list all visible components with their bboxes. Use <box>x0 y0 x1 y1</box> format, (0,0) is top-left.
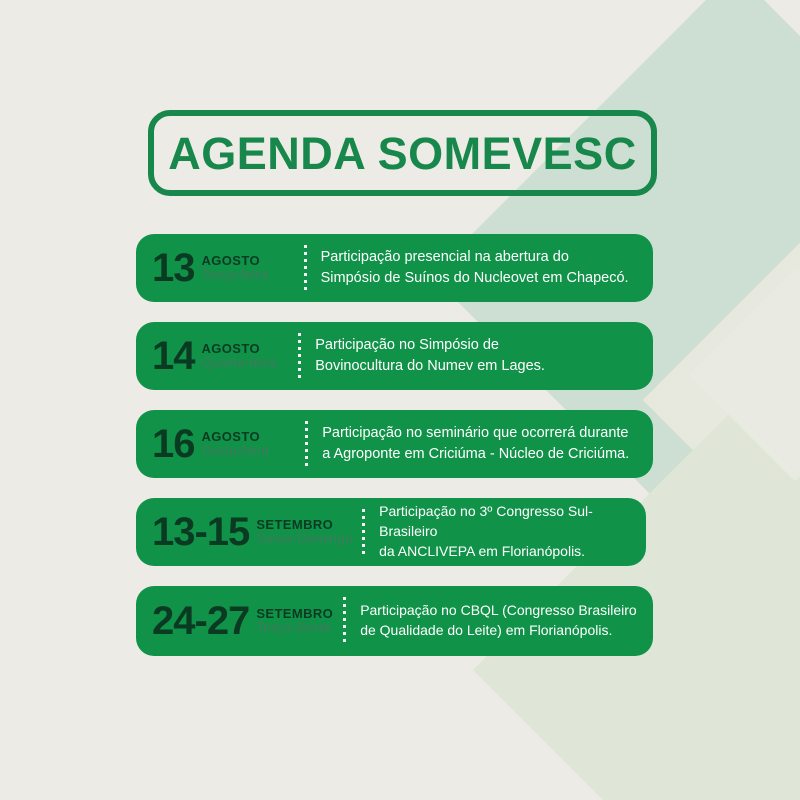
date-block: 13-15 SETEMBRO Sexta-Domingo <box>152 514 353 551</box>
weekday-label: Terça-feira <box>202 267 268 282</box>
day-number: 14 <box>152 338 195 375</box>
streak-highlight-shape <box>689 269 800 481</box>
day-number: 13-15 <box>152 514 249 551</box>
event-description: Participação presencial na abertura do S… <box>321 247 639 288</box>
date-meta: AGOSTO Quarta-feira <box>202 342 277 370</box>
event-description-line-1: Participação no Simpósio de <box>315 335 639 356</box>
date-meta: AGOSTO Terça-feira <box>202 254 268 282</box>
agenda-item-3[interactable]: 16 AGOSTO Sexta-feira Participação no se… <box>136 410 653 478</box>
agenda-item-5[interactable]: 24-27 SETEMBRO Terça-Sexta Participação … <box>136 586 653 656</box>
weekday-label: Sexta-Domingo <box>256 531 353 546</box>
date-block: 24-27 SETEMBRO Terça-Sexta <box>152 603 333 640</box>
event-description-line-1: Participação no 3º Congresso Sul-Brasile… <box>379 502 632 542</box>
agenda-item-1[interactable]: 13 AGOSTO Terça-feira Participação prese… <box>136 234 653 302</box>
agenda-list: 13 AGOSTO Terça-feira Participação prese… <box>136 234 676 676</box>
day-number: 16 <box>152 426 195 463</box>
month-label: SETEMBRO <box>256 518 353 532</box>
date-block: 13 AGOSTO Terça-feira <box>152 250 268 287</box>
event-description: Participação no seminário que ocorrerá d… <box>322 423 639 464</box>
event-description-line-2: Simpósio de Suínos do Nucleovet em Chape… <box>321 268 639 289</box>
date-meta: SETEMBRO Terça-Sexta <box>256 607 333 635</box>
month-label: AGOSTO <box>202 254 268 268</box>
agenda-item-2[interactable]: 14 AGOSTO Quarta-feira Participação no S… <box>136 322 653 390</box>
dotted-divider <box>362 509 365 555</box>
day-number: 13 <box>152 250 195 287</box>
month-label: SETEMBRO <box>256 607 333 621</box>
agenda-item-4[interactable]: 13-15 SETEMBRO Sexta-Domingo Participaçã… <box>136 498 646 566</box>
agenda-poster: AGENDA SOMEVESC 13 AGOSTO Terça-feira Pa… <box>0 0 800 800</box>
dotted-divider <box>304 245 307 291</box>
date-block: 16 AGOSTO Sexta-feira <box>152 426 269 463</box>
event-description-line-1: Participação no seminário que ocorrerá d… <box>322 423 639 444</box>
event-description-line-2: a Agroponte em Criciúma - Núcleo de Cric… <box>322 444 639 465</box>
event-description: Participação no Simpósio de Bovinocultur… <box>315 335 639 376</box>
date-block: 14 AGOSTO Quarta-feira <box>152 338 276 375</box>
event-description-line-1: Participação no CBQL (Congresso Brasilei… <box>360 601 639 621</box>
weekday-label: Quarta-feira <box>202 355 277 370</box>
dotted-divider <box>305 421 308 467</box>
event-description: Participação no 3º Congresso Sul-Brasile… <box>379 502 632 562</box>
dotted-divider <box>298 333 301 379</box>
date-meta: AGOSTO Sexta-feira <box>202 430 270 458</box>
date-meta: SETEMBRO Sexta-Domingo <box>256 518 353 546</box>
event-description-line-2: da ANCLIVEPA em Florianópolis. <box>379 542 632 562</box>
page-title: AGENDA SOMEVESC <box>168 131 636 176</box>
month-label: AGOSTO <box>202 342 277 356</box>
event-description: Participação no CBQL (Congresso Brasilei… <box>360 601 639 641</box>
month-label: AGOSTO <box>202 430 270 444</box>
weekday-label: Sexta-feira <box>202 443 270 458</box>
weekday-label: Terça-Sexta <box>256 620 333 635</box>
event-description-line-2: Bovinocultura do Numev em Lages. <box>315 356 639 377</box>
event-description-line-2: de Qualidade do Leite) em Florianópolis. <box>360 621 639 641</box>
event-description-line-1: Participação presencial na abertura do <box>321 247 639 268</box>
dotted-divider <box>343 597 346 645</box>
page-title-box: AGENDA SOMEVESC <box>148 110 657 196</box>
day-number: 24-27 <box>152 603 249 640</box>
